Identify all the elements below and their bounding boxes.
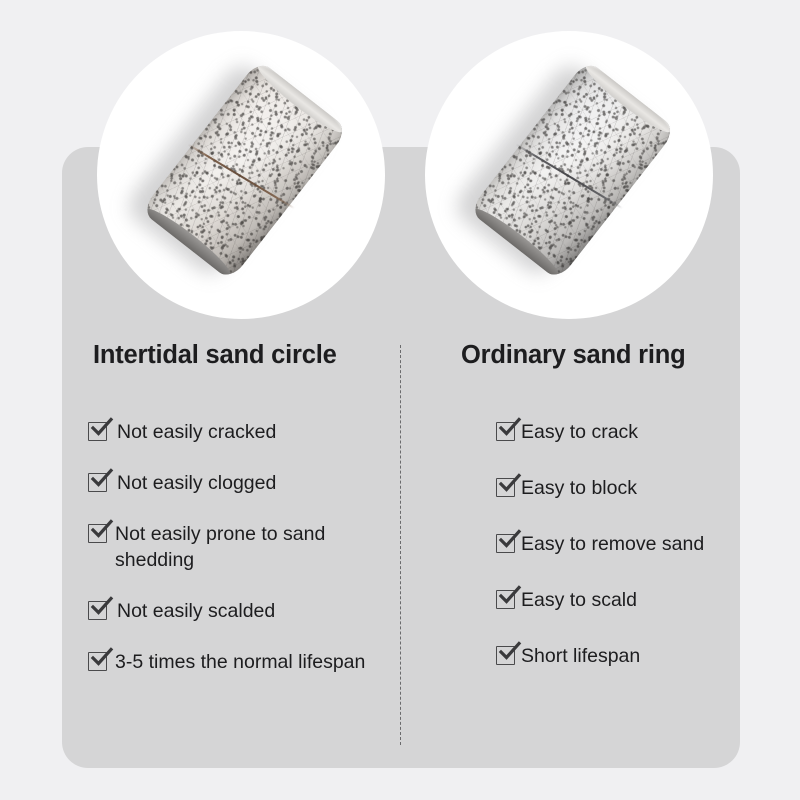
column-divider	[400, 345, 401, 745]
column-title-right: Ordinary sand ring	[461, 341, 686, 370]
sanding-band-left	[138, 59, 352, 286]
checkbox-checked-icon	[88, 652, 107, 671]
checkbox-checked-icon	[88, 473, 107, 492]
feature-label: Easy to crack	[515, 419, 638, 445]
checkbox-checked-icon	[88, 422, 107, 441]
product-image-right	[425, 31, 713, 319]
feature-list-right: Easy to crack Easy to block Easy to remo…	[496, 418, 796, 698]
comparison-infographic: Intertidal sand circle Ordinary sand rin…	[0, 0, 800, 800]
feature-label: Short lifespan	[515, 643, 640, 669]
checkbox-checked-icon	[496, 422, 515, 441]
checkbox-checked-icon	[88, 524, 107, 543]
feature-item: Short lifespan	[496, 642, 796, 669]
feature-item: Not easily prone to sand shedding	[88, 520, 388, 573]
feature-item: Easy to scald	[496, 586, 796, 613]
feature-item: Not easily cracked	[88, 418, 388, 445]
feature-item: Not easily scalded	[88, 597, 388, 624]
feature-label: Not easily scalded	[107, 598, 275, 624]
feature-label: Not easily cracked	[107, 419, 276, 445]
product-image-left	[97, 31, 385, 319]
sanding-band-right	[466, 59, 680, 286]
checkbox-checked-icon	[88, 601, 107, 620]
feature-label: 3-5 times the normal lifespan	[107, 649, 365, 675]
column-title-left: Intertidal sand circle	[93, 341, 337, 370]
feature-label: Easy to block	[515, 475, 637, 501]
checkbox-checked-icon	[496, 590, 515, 609]
feature-label: Not easily prone to sand shedding	[107, 521, 388, 573]
feature-list-left: Not easily cracked Not easily clogged No…	[88, 418, 388, 699]
feature-label: Not easily clogged	[107, 470, 276, 496]
feature-item: Easy to crack	[496, 418, 796, 445]
feature-item: 3-5 times the normal lifespan	[88, 648, 388, 675]
feature-item: Easy to block	[496, 474, 796, 501]
checkbox-checked-icon	[496, 478, 515, 497]
checkbox-checked-icon	[496, 646, 515, 665]
checkbox-checked-icon	[496, 534, 515, 553]
feature-item: Not easily clogged	[88, 469, 388, 496]
feature-label: Easy to scald	[515, 587, 637, 613]
feature-item: Easy to remove sand	[496, 530, 796, 557]
feature-label: Easy to remove sand	[515, 531, 704, 557]
